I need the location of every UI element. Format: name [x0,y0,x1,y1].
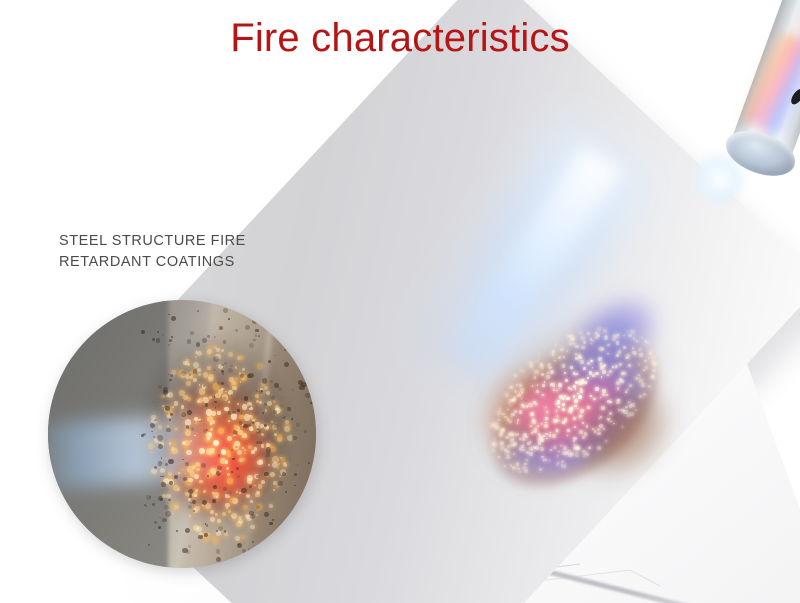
inset-spark-specks [48,300,316,568]
poster-canvas: Fire characteristics STEEL STRUCTURE FIR… [0,0,800,603]
page-title: Fire characteristics [0,16,800,61]
magnified-detail-circle [48,300,316,568]
burn-spot [462,300,688,496]
product-caption: STEEL STRUCTURE FIRE RETARDANT COATINGS [59,231,246,273]
burn-sparkles [452,290,698,506]
photo-scene [0,0,800,603]
